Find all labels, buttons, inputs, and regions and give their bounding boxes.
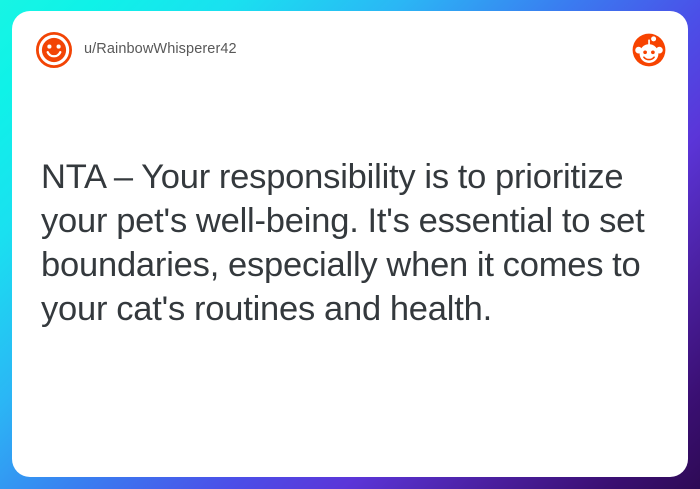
reddit-snoo-logo-icon[interactable]	[632, 33, 666, 67]
card-header: u/RainbowWhisperer42	[12, 11, 688, 89]
author-block[interactable]: u/RainbowWhisperer42	[36, 32, 632, 68]
card-body: NTA – Your responsibility is to prioriti…	[12, 89, 688, 477]
smiley-face-avatar-icon[interactable]	[36, 32, 72, 68]
comment-text: NTA – Your responsibility is to prioriti…	[41, 155, 658, 331]
gradient-background: u/RainbowWhisperer42 NTA –	[0, 0, 700, 489]
reddit-comment-card: u/RainbowWhisperer42 NTA –	[12, 11, 688, 477]
author-username: u/RainbowWhisperer42	[84, 41, 237, 58]
